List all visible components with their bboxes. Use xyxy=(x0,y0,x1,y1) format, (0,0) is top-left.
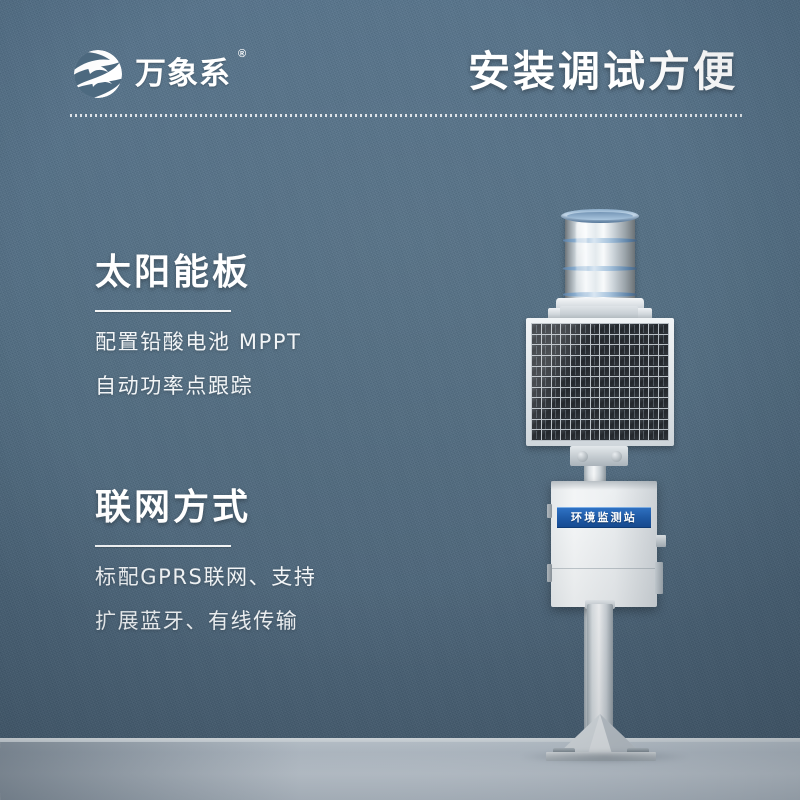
solar-cell xyxy=(591,420,600,430)
feature-title: 联网方式 xyxy=(95,487,316,528)
solar-cell xyxy=(640,388,649,398)
solar-cell xyxy=(640,345,649,355)
solar-cell xyxy=(561,398,570,408)
rain-gauge-band xyxy=(563,266,637,271)
solar-cell xyxy=(620,409,629,419)
solar-cell xyxy=(571,388,580,398)
feature-title: 太阳能板 xyxy=(95,252,302,293)
rain-gauge-band xyxy=(563,238,637,243)
product-banner: 万象系 ® 安装调试方便 太阳能板 配置铅酸电池 MPPT 自动功率点跟踪 联网… xyxy=(0,0,800,800)
solar-cell xyxy=(571,335,580,345)
solar-cell xyxy=(542,324,551,334)
control-enclosure xyxy=(551,481,657,607)
solar-cell xyxy=(640,409,649,419)
enclosure-vent xyxy=(655,562,663,594)
solar-cell xyxy=(600,356,609,366)
rain-gauge-band xyxy=(563,292,637,297)
solar-cell xyxy=(630,409,639,419)
solar-cell xyxy=(581,345,590,355)
solar-cell xyxy=(640,367,649,377)
solar-cell xyxy=(552,367,561,377)
solar-cell xyxy=(552,324,561,334)
solar-cell xyxy=(532,367,541,377)
solar-cell xyxy=(552,420,561,430)
solar-cell xyxy=(532,335,541,345)
solar-cell xyxy=(561,356,570,366)
solar-cell xyxy=(649,398,658,408)
solar-cell xyxy=(581,388,590,398)
enclosure-hinge xyxy=(547,564,552,582)
solar-cell xyxy=(532,388,541,398)
solar-cell xyxy=(640,335,649,345)
solar-cell xyxy=(591,356,600,366)
solar-cell xyxy=(649,420,658,430)
solar-cell xyxy=(552,398,561,408)
solar-cell xyxy=(542,398,551,408)
solar-cell xyxy=(532,356,541,366)
solar-cell xyxy=(649,377,658,387)
enclosure-top-shading xyxy=(551,481,657,490)
solar-cell xyxy=(542,345,551,355)
feature-divider xyxy=(95,545,231,547)
solar-cell xyxy=(600,398,609,408)
solar-cell xyxy=(561,367,570,377)
solar-cell xyxy=(571,324,580,334)
enclosure-hinge xyxy=(547,504,552,518)
solar-cell xyxy=(600,430,609,440)
solar-cell xyxy=(542,356,551,366)
solar-cell xyxy=(649,409,658,419)
globe-swoosh-logo-icon xyxy=(70,46,126,102)
wall-texture xyxy=(0,0,800,800)
solar-cell xyxy=(610,420,619,430)
solar-cell xyxy=(542,409,551,419)
solar-cell xyxy=(561,324,570,334)
solar-cell xyxy=(620,420,629,430)
solar-cell xyxy=(571,367,580,377)
solar-cell xyxy=(581,420,590,430)
solar-panel-cell-grid xyxy=(531,323,669,441)
solar-cell xyxy=(610,388,619,398)
solar-cell xyxy=(659,430,668,440)
solar-cell xyxy=(630,388,639,398)
solar-cell xyxy=(640,430,649,440)
solar-cell xyxy=(532,409,541,419)
solar-cell xyxy=(659,367,668,377)
solar-cell xyxy=(659,377,668,387)
solar-cell xyxy=(649,367,658,377)
solar-cell xyxy=(532,324,541,334)
solar-cell xyxy=(591,335,600,345)
solar-cell xyxy=(571,430,580,440)
brand-logo: 万象系 ® xyxy=(70,46,246,102)
solar-cell xyxy=(610,324,619,334)
solar-cell xyxy=(571,356,580,366)
enclosure-label-text: 环境监测站 xyxy=(571,512,637,523)
solar-cell xyxy=(591,398,600,408)
solar-cell xyxy=(630,398,639,408)
solar-cell xyxy=(561,335,570,345)
solar-cell xyxy=(620,430,629,440)
solar-cell xyxy=(640,398,649,408)
solar-cell xyxy=(610,377,619,387)
solar-cell xyxy=(610,345,619,355)
solar-cell xyxy=(600,367,609,377)
solar-cell xyxy=(610,409,619,419)
solar-cell xyxy=(561,420,570,430)
solar-cell xyxy=(630,356,639,366)
feature-line: 标配GPRS联网、支持 xyxy=(95,566,316,588)
solar-cell xyxy=(610,335,619,345)
solar-cell xyxy=(552,388,561,398)
enclosure-seam xyxy=(551,568,657,569)
solar-cell xyxy=(591,388,600,398)
solar-cell xyxy=(581,356,590,366)
solar-cell xyxy=(561,345,570,355)
solar-cell xyxy=(581,430,590,440)
solar-cell xyxy=(649,335,658,345)
banner-header: 万象系 ® 安装调试方便 xyxy=(0,0,800,118)
header-divider xyxy=(70,114,742,117)
environmental-monitoring-station: 环境监测站 xyxy=(0,0,800,800)
solar-cell xyxy=(630,335,639,345)
solar-cell xyxy=(640,377,649,387)
solar-cell xyxy=(630,430,639,440)
solar-cell xyxy=(571,377,580,387)
solar-cell xyxy=(630,324,639,334)
solar-cell xyxy=(610,367,619,377)
solar-cell xyxy=(552,430,561,440)
rain-gauge-highlight xyxy=(576,220,587,298)
feature-block-network: 联网方式 标配GPRS联网、支持 扩展蓝牙、有线传输 xyxy=(95,487,316,632)
solar-cell xyxy=(620,324,629,334)
wall-vignette xyxy=(0,0,800,800)
solar-cell xyxy=(591,324,600,334)
solar-cell xyxy=(620,335,629,345)
solar-panel xyxy=(526,318,674,446)
solar-cell xyxy=(591,367,600,377)
solar-cell xyxy=(659,324,668,334)
solar-cell xyxy=(552,377,561,387)
solar-cell xyxy=(649,324,658,334)
solar-cell xyxy=(600,388,609,398)
solar-cell xyxy=(581,367,590,377)
solar-cell xyxy=(620,398,629,408)
solar-cell xyxy=(659,398,668,408)
solar-cell xyxy=(610,398,619,408)
solar-cell xyxy=(542,377,551,387)
solar-cell xyxy=(610,430,619,440)
solar-cell xyxy=(600,324,609,334)
solar-cell xyxy=(659,335,668,345)
solar-cell xyxy=(552,356,561,366)
solar-cell xyxy=(630,377,639,387)
solar-cell xyxy=(561,409,570,419)
solar-cell xyxy=(581,409,590,419)
solar-cell xyxy=(620,345,629,355)
solar-cell xyxy=(600,377,609,387)
feature-line: 配置铅酸电池 MPPT xyxy=(95,331,302,353)
solar-cell xyxy=(630,345,639,355)
solar-cell xyxy=(630,367,639,377)
solar-cell xyxy=(659,388,668,398)
solar-cell xyxy=(620,388,629,398)
solar-cell xyxy=(600,409,609,419)
solar-cell xyxy=(600,335,609,345)
solar-cell xyxy=(591,377,600,387)
solar-cell xyxy=(649,345,658,355)
solar-cell xyxy=(542,367,551,377)
solar-cell xyxy=(591,409,600,419)
solar-cell xyxy=(581,377,590,387)
solar-cell xyxy=(542,335,551,345)
solar-cell xyxy=(571,345,580,355)
solar-cell xyxy=(561,377,570,387)
solar-cell xyxy=(561,388,570,398)
solar-cell xyxy=(571,409,580,419)
enclosure-latch xyxy=(656,535,666,547)
solar-cell xyxy=(542,388,551,398)
mount-bolt-icon xyxy=(611,451,622,462)
solar-cell xyxy=(571,398,580,408)
solar-cell xyxy=(659,409,668,419)
solar-cell xyxy=(532,398,541,408)
solar-cell xyxy=(620,356,629,366)
solar-cell xyxy=(591,345,600,355)
rain-gauge-aperture xyxy=(567,212,633,220)
solar-cell xyxy=(620,367,629,377)
feature-block-solar-panel: 太阳能板 配置铅酸电池 MPPT 自动功率点跟踪 xyxy=(95,252,302,397)
solar-cell xyxy=(532,377,541,387)
solar-cell xyxy=(591,430,600,440)
solar-cell xyxy=(659,356,668,366)
solar-cell xyxy=(552,345,561,355)
solar-cell xyxy=(532,420,541,430)
feature-line: 自动功率点跟踪 xyxy=(95,375,302,397)
floor-contact-shadow xyxy=(520,750,690,764)
solar-cell xyxy=(649,388,658,398)
solar-cell xyxy=(581,324,590,334)
solar-cell xyxy=(532,430,541,440)
solar-cell xyxy=(610,356,619,366)
solar-panel-face xyxy=(531,323,669,441)
solar-cell xyxy=(630,420,639,430)
brand-name: 万象系 xyxy=(135,59,231,90)
solar-cell xyxy=(552,409,561,419)
solar-cell xyxy=(640,324,649,334)
solar-cell xyxy=(600,420,609,430)
solar-cell xyxy=(640,356,649,366)
page-title: 安装调试方便 xyxy=(468,46,738,99)
mount-bolt-icon xyxy=(577,451,588,462)
solar-cell xyxy=(542,420,551,430)
solar-cell xyxy=(581,398,590,408)
solar-cell xyxy=(571,420,580,430)
solar-cell xyxy=(561,430,570,440)
solar-cell xyxy=(659,420,668,430)
solar-cell xyxy=(542,430,551,440)
floor-shading xyxy=(0,742,300,800)
feature-line: 扩展蓝牙、有线传输 xyxy=(95,610,316,632)
trademark-symbol: ® xyxy=(238,48,246,60)
solar-cell xyxy=(581,335,590,345)
solar-cell xyxy=(649,430,658,440)
status-badge: 环境监测站 xyxy=(557,507,651,528)
solar-cell xyxy=(659,345,668,355)
solar-cell xyxy=(640,420,649,430)
solar-cell xyxy=(649,356,658,366)
feature-divider xyxy=(95,310,231,312)
solar-cell xyxy=(552,335,561,345)
solar-cell xyxy=(600,345,609,355)
solar-cell xyxy=(532,345,541,355)
solar-cell xyxy=(620,377,629,387)
